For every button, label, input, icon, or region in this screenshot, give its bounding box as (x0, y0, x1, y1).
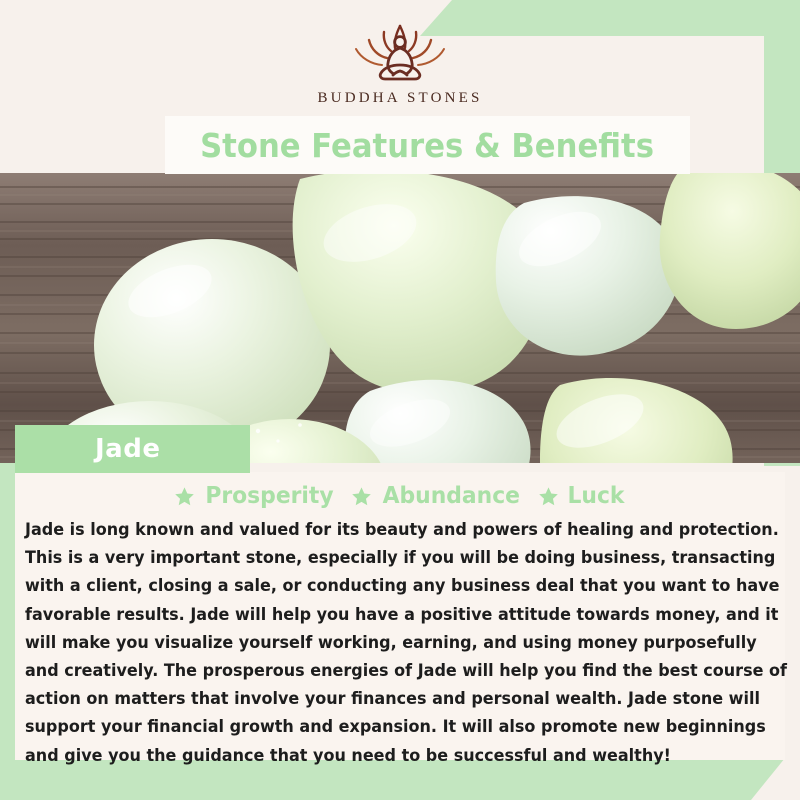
keyword-item-abundance: Abundance (351, 483, 524, 509)
stone-name-band: Jade (15, 425, 250, 473)
stone-description: Jade is long known and valued for its be… (25, 516, 795, 770)
star-icon (351, 486, 372, 507)
title-banner: Stone Features & Benefits (165, 116, 690, 174)
decor-strip-left (0, 470, 15, 800)
keyword-label: Abundance (383, 483, 520, 509)
keyword-list: Prosperity Abundance Luck (25, 480, 775, 512)
stone-photo-illustration (0, 173, 800, 463)
star-icon (538, 486, 559, 507)
brand-logo-block: BUDDHA STONES (0, 18, 800, 118)
brand-name: BUDDHA STONES (317, 90, 482, 107)
stone-name: Jade (95, 434, 160, 464)
keyword-label: Luck (567, 483, 624, 509)
star-icon (174, 486, 195, 507)
keyword-label: Prosperity (206, 483, 334, 509)
keyword-item-prosperity: Prosperity (174, 483, 337, 509)
keyword-item-luck: Luck (538, 483, 626, 509)
stone-photo (0, 173, 800, 463)
page-title: Stone Features & Benefits (201, 126, 655, 165)
infographic-page: BUDDHA STONES Stone Features & Benefits (0, 0, 800, 800)
lotus-meditation-logo-icon (336, 18, 464, 88)
content-panel: Prosperity Abundance Luck Jade is long k… (15, 472, 785, 760)
